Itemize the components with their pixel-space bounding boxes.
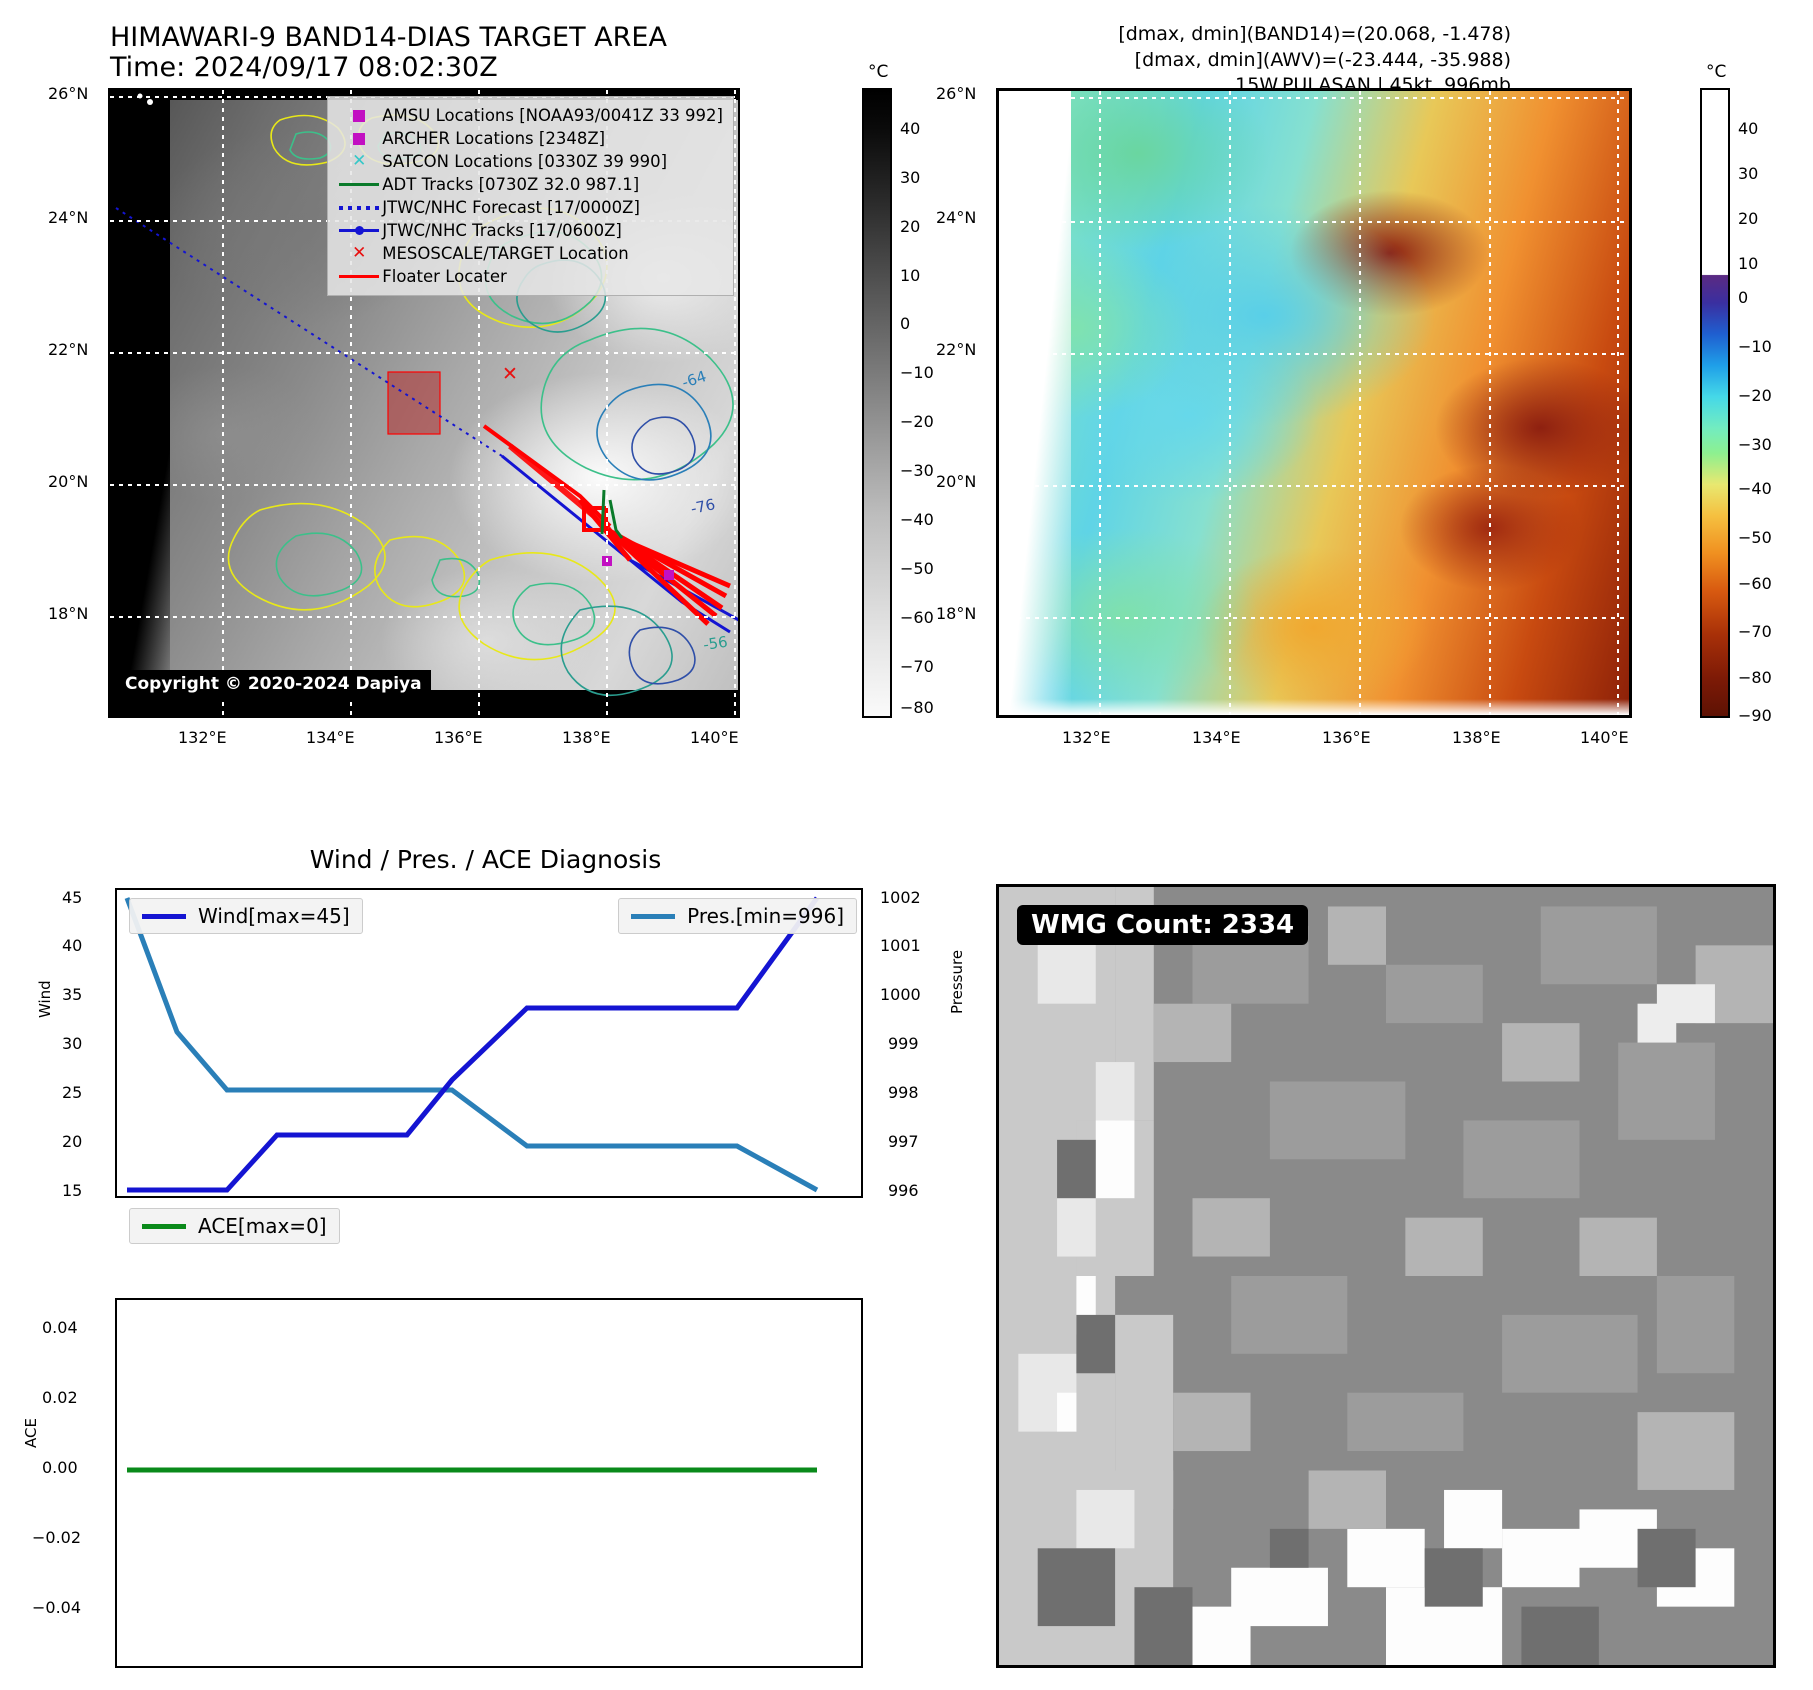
page-title-line1: HIMAWARI-9 BAND14-DIAS TARGET AREA xyxy=(110,22,667,53)
ir-satellite-map[interactable]: -64 -76 -56 -64 ✕ xyxy=(108,88,740,718)
pressure-tick: 1000 xyxy=(880,985,921,1004)
ace-plot xyxy=(117,1300,861,1666)
amsu-marker xyxy=(664,570,674,580)
ce-imagery xyxy=(999,91,1629,715)
colorbar-tick: −40 xyxy=(900,510,934,529)
ir-lat-tick: 26°N xyxy=(48,84,88,103)
ir-lon-tick: 134°E xyxy=(306,728,355,747)
diagnosis-title: Wind / Pres. / ACE Diagnosis xyxy=(108,845,863,874)
wind-tick: 30 xyxy=(62,1034,82,1053)
colorbar-tick: −70 xyxy=(1738,622,1772,641)
legend-item-tracks[interactable]: JTWC/NHC Tracks [17/0600Z] xyxy=(336,219,723,242)
wind-axis-label: Wind xyxy=(36,980,54,1018)
ce-no-data-region xyxy=(999,91,1071,715)
wmg-cells xyxy=(999,887,1773,1665)
ir-gridline-lat xyxy=(110,352,738,354)
ce-lat-tick: 18°N xyxy=(936,604,976,623)
wind-tick: 20 xyxy=(62,1132,82,1151)
pressure-tick: 997 xyxy=(888,1132,919,1151)
adt-line-icon xyxy=(336,183,382,186)
mesoscale-target-marker: ✕ xyxy=(502,363,518,385)
colorbar-tick: 20 xyxy=(1738,209,1758,228)
legend-label: Floater Locater xyxy=(382,267,507,286)
wind-pressure-chart[interactable]: Wind[max=45] Pres.[min=996] xyxy=(115,888,863,1198)
ir-gridline-lat xyxy=(110,484,738,486)
mesoscale-cross-icon: ✕ xyxy=(336,245,382,262)
colorbar-tick: −30 xyxy=(900,461,934,480)
ce-bottom-fade xyxy=(999,699,1629,715)
legend-label: ARCHER Locations [2348Z] xyxy=(382,129,605,148)
ace-legend-label: ACE[max=0] xyxy=(198,1214,327,1238)
colorbar-tick: −60 xyxy=(1738,574,1772,593)
colorbar-tick: 40 xyxy=(1738,119,1758,138)
contour-label: -76 xyxy=(689,495,717,518)
ace-tick: 0.02 xyxy=(42,1388,78,1407)
colorbar-tick: 0 xyxy=(1738,288,1748,307)
colorbar-tick: 30 xyxy=(1738,164,1758,183)
ce-gridline-lon xyxy=(1617,91,1619,715)
ce-gridline-lat xyxy=(999,617,1629,619)
map-legend: AMSU Locations [NOAA93/0041Z 33 992] ARC… xyxy=(327,96,734,296)
colorbar-tick: −80 xyxy=(1738,668,1772,687)
colorbar-tick: 10 xyxy=(900,266,920,285)
ce-gridline-lat xyxy=(999,221,1629,223)
ce-gridline-lon xyxy=(1099,91,1101,715)
pressure-line-swatch xyxy=(631,914,675,919)
ce-gridline-lon xyxy=(1489,91,1491,715)
colorbar-tick: −90 xyxy=(1738,706,1772,725)
ce-lon-tick: 132°E xyxy=(1062,728,1111,747)
ce-lon-tick: 138°E xyxy=(1452,728,1501,747)
pressure-tick: 1001 xyxy=(880,936,921,955)
legend-label: ADT Tracks [0730Z 32.0 987.1] xyxy=(382,175,639,194)
ce-lat-tick: 24°N xyxy=(936,208,976,227)
legend-label: JTWC/NHC Tracks [17/0600Z] xyxy=(382,221,622,240)
contour-label: -56 xyxy=(702,633,729,654)
ce-gridline-lat xyxy=(999,485,1629,487)
colorbar-tick: −10 xyxy=(900,363,934,382)
legend-label: MESOSCALE/TARGET Location xyxy=(382,244,628,263)
legend-label: AMSU Locations [NOAA93/0041Z 33 992] xyxy=(382,106,723,125)
dmax-dmin-band14: [dmax, dmin](BAND14)=(20.068, -1.478) xyxy=(891,22,1511,48)
legend-item-forecast[interactable]: JTWC/NHC Forecast [17/0000Z] xyxy=(336,196,723,219)
pressure-tick: 999 xyxy=(888,1034,919,1053)
ace-axis-label: ACE xyxy=(22,1418,40,1448)
pressure-tick: 996 xyxy=(888,1181,919,1200)
colorbar-tick: −80 xyxy=(900,698,934,717)
colorbar-gradient xyxy=(862,88,892,718)
colorbar-tick: 30 xyxy=(900,168,920,187)
colorbar-tick: −50 xyxy=(1738,528,1772,547)
ace-line-swatch xyxy=(142,1224,186,1229)
pressure-series xyxy=(127,898,817,1190)
wind-tick: 45 xyxy=(62,888,82,907)
wind-tick: 40 xyxy=(62,936,82,955)
ir-lon-tick: 140°E xyxy=(690,728,739,747)
legend-item-archer[interactable]: ARCHER Locations [2348Z] xyxy=(336,127,723,150)
ce-lon-tick: 134°E xyxy=(1192,728,1241,747)
ce-gridline-lat xyxy=(999,353,1629,355)
colorbar-unit: °C xyxy=(868,62,888,82)
ace-legend[interactable]: ACE[max=0] xyxy=(129,1208,340,1244)
legend-label: SATCON Locations [0330Z 39 990] xyxy=(382,152,667,171)
wind-tick: 35 xyxy=(62,985,82,1004)
ir-gridline-lon xyxy=(734,90,736,716)
wind-legend-label: Wind[max=45] xyxy=(198,904,350,928)
satcon-cross-icon: ✕ xyxy=(336,153,382,170)
ce-lat-tick: 22°N xyxy=(936,340,976,359)
ir-lat-tick: 18°N xyxy=(48,604,88,623)
page-title-line2: Time: 2024/09/17 08:02:30Z xyxy=(110,52,498,83)
color-enhanced-map[interactable] xyxy=(996,88,1632,718)
legend-item-mesoscale[interactable]: ✕ MESOSCALE/TARGET Location xyxy=(336,242,723,265)
dashboard-root: HIMAWARI-9 BAND14-DIAS TARGET AREA Time:… xyxy=(0,0,1813,1690)
ir-lon-tick: 136°E xyxy=(434,728,483,747)
ce-lat-tick: 26°N xyxy=(936,84,976,103)
wind-line-swatch xyxy=(142,914,186,919)
wind-pressure-plot xyxy=(117,890,861,1196)
target-box xyxy=(388,372,440,434)
colorbar-tick: −20 xyxy=(1738,386,1772,405)
archer-square-icon xyxy=(336,133,382,145)
colorbar-tick: −10 xyxy=(1738,337,1772,356)
pressure-axis-label: Pressure xyxy=(948,950,966,1014)
ce-gridline-lon xyxy=(1359,91,1361,715)
ace-tick: 0.00 xyxy=(42,1458,78,1477)
ir-lon-tick: 138°E xyxy=(562,728,611,747)
pressure-legend[interactable]: Pres.[min=996] xyxy=(618,898,857,934)
forecast-dotted-icon xyxy=(336,206,382,210)
ir-lon-tick: 132°E xyxy=(178,728,227,747)
ir-lat-tick: 22°N xyxy=(48,340,88,359)
colorbar-gradient xyxy=(1700,88,1730,718)
amsu-square-icon xyxy=(336,110,382,122)
legend-label: JTWC/NHC Forecast [17/0000Z] xyxy=(382,198,640,217)
pressure-legend-label: Pres.[min=996] xyxy=(687,904,844,928)
colorbar-tick: 0 xyxy=(900,314,910,333)
colorbar-tick: −60 xyxy=(900,608,934,627)
legend-item-adt[interactable]: ADT Tracks [0730Z 32.0 987.1] xyxy=(336,173,723,196)
floater-line-icon xyxy=(336,275,382,278)
ce-lon-tick: 136°E xyxy=(1322,728,1371,747)
corner-dot xyxy=(147,99,153,105)
ce-lat-tick: 20°N xyxy=(936,472,976,491)
ir-lat-tick: 24°N xyxy=(48,208,88,227)
ace-chart[interactable]: ACE[max=0] xyxy=(115,1298,863,1668)
ace-tick: 0.04 xyxy=(42,1318,78,1337)
wind-tick: 15 xyxy=(62,1181,82,1200)
wmg-count-badge: WMG Count: 2334 xyxy=(1017,905,1308,945)
ce-lon-tick: 140°E xyxy=(1580,728,1629,747)
ir-lat-tick: 20°N xyxy=(48,472,88,491)
pressure-tick: 1002 xyxy=(880,888,921,907)
track-line-marker-icon xyxy=(336,229,382,232)
ce-gridline-lat xyxy=(999,97,1629,99)
ir-gridline-lon xyxy=(222,90,224,716)
colorbar-tick: 40 xyxy=(900,119,920,138)
wmg-grid-map[interactable]: WMG Count: 2334 xyxy=(996,884,1776,1668)
wind-tick: 25 xyxy=(62,1083,82,1102)
legend-item-satcon[interactable]: ✕ SATCON Locations [0330Z 39 990] xyxy=(336,150,723,173)
ace-tick: −0.04 xyxy=(32,1598,81,1617)
colorbar-tick: 20 xyxy=(900,217,920,236)
colorbar-tick: −40 xyxy=(1738,479,1772,498)
ce-gridline-lon xyxy=(1229,91,1231,715)
copyright-label: Copyright © 2020-2024 Dapiya xyxy=(116,670,431,698)
colorbar-tick: −70 xyxy=(900,657,934,676)
colorbar-tick: −20 xyxy=(900,412,934,431)
contour-label: -64 xyxy=(680,367,709,392)
legend-item-floater[interactable]: Floater Locater xyxy=(336,265,723,288)
ace-tick: −0.02 xyxy=(32,1528,81,1547)
legend-item-amsu[interactable]: AMSU Locations [NOAA93/0041Z 33 992] xyxy=(336,104,723,127)
colorbar-tick: −50 xyxy=(900,559,934,578)
pressure-tick: 998 xyxy=(888,1083,919,1102)
ir-gridline-lat xyxy=(110,616,738,618)
colorbar-tick: 10 xyxy=(1738,254,1758,273)
colorbar-tick: −30 xyxy=(1738,435,1772,454)
dmax-dmin-awv: [dmax, dmin](AWV)=(-23.444, -35.988) xyxy=(891,48,1511,74)
colorbar-unit: °C xyxy=(1706,62,1726,82)
wind-legend[interactable]: Wind[max=45] xyxy=(129,898,363,934)
